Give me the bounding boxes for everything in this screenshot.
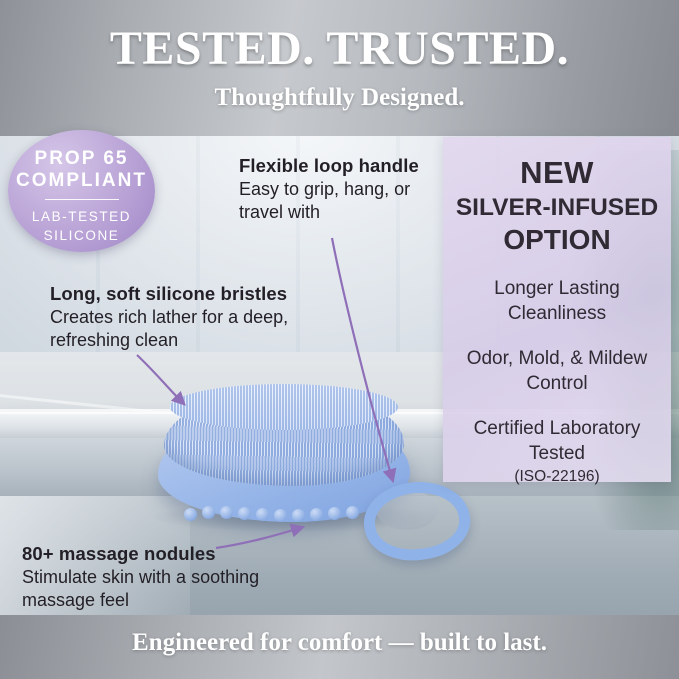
top-banner: TESTED. TRUSTED. Thoughtfully Designed.: [0, 0, 679, 136]
silicone-body-scrubber: [150, 378, 450, 538]
panel-benefit-1: Longer Lasting Cleanliness: [443, 276, 671, 326]
prop-65-badge: PROP 65 COMPLIANT LAB-TESTED SILICONE: [8, 130, 155, 252]
product-infographic: TESTED. TRUSTED. Thoughtfully Designed. …: [0, 0, 679, 679]
callout-nodules: 80+ massage nodules Stimulate skin with …: [22, 543, 262, 612]
panel-benefit-2: Odor, Mold, & Mildew Control: [443, 346, 671, 396]
panel-benefit-3: Certified Laboratory Tested: [443, 416, 671, 466]
callout-bristles: Long, soft silicone bristles Creates ric…: [50, 283, 310, 352]
footer-text: Engineered for comfort — built to last.: [0, 629, 679, 657]
callout-loop-title: Flexible loop handle: [239, 155, 449, 177]
callout-nodules-title: 80+ massage nodules: [22, 543, 262, 565]
callout-loop-body: Easy to grip, hang, or travel with: [239, 178, 449, 224]
headline: TESTED. TRUSTED.: [0, 21, 679, 76]
callout-bristles-body: Creates rich lather for a deep, refreshi…: [50, 306, 310, 352]
subheadline: Thoughtfully Designed.: [0, 84, 679, 112]
silver-infused-panel: NEW SILVER-INFUSED OPTION Longer Lasting…: [443, 137, 671, 482]
badge-line-3: LAB-TESTED: [8, 207, 155, 226]
panel-silver-label: SILVER-INFUSED: [443, 193, 671, 223]
callout-bristles-title: Long, soft silicone bristles: [50, 283, 310, 305]
brush-bristles-top: [170, 384, 398, 430]
badge-line-2: COMPLIANT: [8, 170, 155, 192]
badge-line-1: PROP 65: [8, 148, 155, 170]
bottom-banner: Engineered for comfort — built to last.: [0, 615, 679, 679]
callout-loop-handle: Flexible loop handle Easy to grip, hang,…: [239, 155, 449, 224]
massage-nodule-row: [184, 506, 364, 522]
badge-divider: [45, 199, 119, 200]
panel-new-label: NEW: [443, 155, 671, 191]
panel-benefit-3-sub: (ISO-22196): [443, 468, 671, 486]
panel-option-label: OPTION: [443, 224, 671, 256]
callout-nodules-body: Stimulate skin with a soothing massage f…: [22, 566, 262, 612]
